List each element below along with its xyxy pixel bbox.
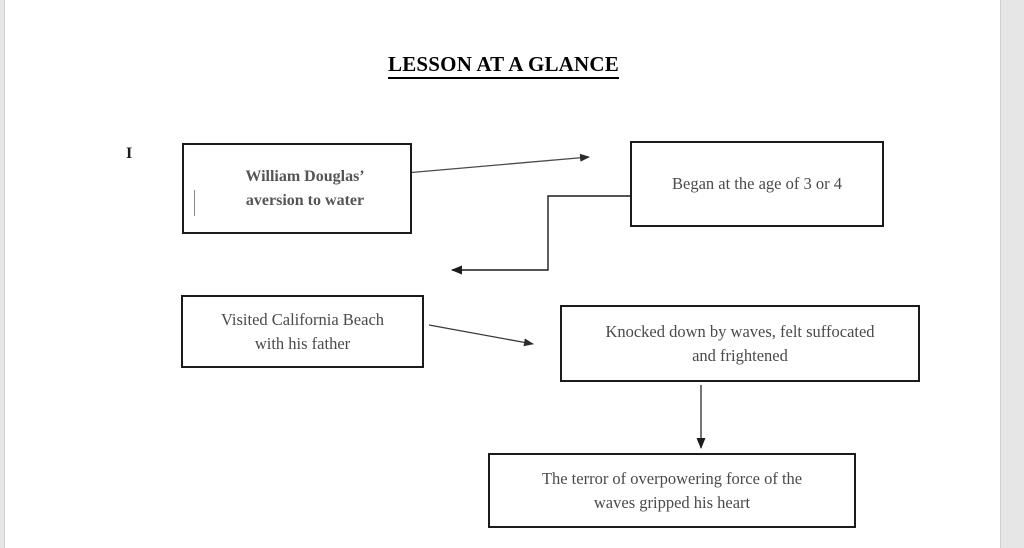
text-caret bbox=[194, 190, 195, 216]
document-page: LESSON AT A GLANCE I Wil bbox=[4, 0, 1001, 548]
flow-box-william-douglas-aversion[interactable]: William Douglas’ aversion to water bbox=[182, 143, 412, 234]
flow-box-line: Knocked down by waves, felt suffocated bbox=[605, 320, 874, 344]
flow-box-line: Visited California Beach bbox=[221, 308, 384, 332]
flow-box-terror-of-overpowering-force[interactable]: The terror of overpowering force of the … bbox=[488, 453, 856, 528]
flow-box-line: aversion to water bbox=[245, 189, 364, 212]
flow-box-line: William Douglas’ bbox=[245, 165, 364, 188]
page-title-text: LESSON AT A GLANCE bbox=[388, 52, 619, 79]
flow-box-line: with his father bbox=[221, 332, 384, 356]
flow-box-knocked-down-by-waves[interactable]: Knocked down by waves, felt suffocated a… bbox=[560, 305, 920, 382]
flow-box-began-at-the-age[interactable]: Began at the age of 3 or 4 bbox=[630, 141, 884, 227]
flow-box-line: The terror of overpowering force of the bbox=[542, 467, 802, 491]
page-title: LESSON AT A GLANCE bbox=[5, 52, 1002, 77]
page-gutter-right bbox=[1002, 0, 1024, 548]
arrow-box3-to-box4 bbox=[429, 325, 533, 344]
flow-box-line: Began at the age of 3 or 4 bbox=[672, 172, 842, 196]
flow-box-line: waves gripped his heart bbox=[542, 491, 802, 515]
flow-box-line: and frightened bbox=[605, 344, 874, 368]
elbow-box2-to-box3 bbox=[452, 196, 630, 270]
flow-box-visited-california-beach[interactable]: Visited California Beach with his father bbox=[181, 295, 424, 368]
section-label: I bbox=[126, 145, 132, 163]
